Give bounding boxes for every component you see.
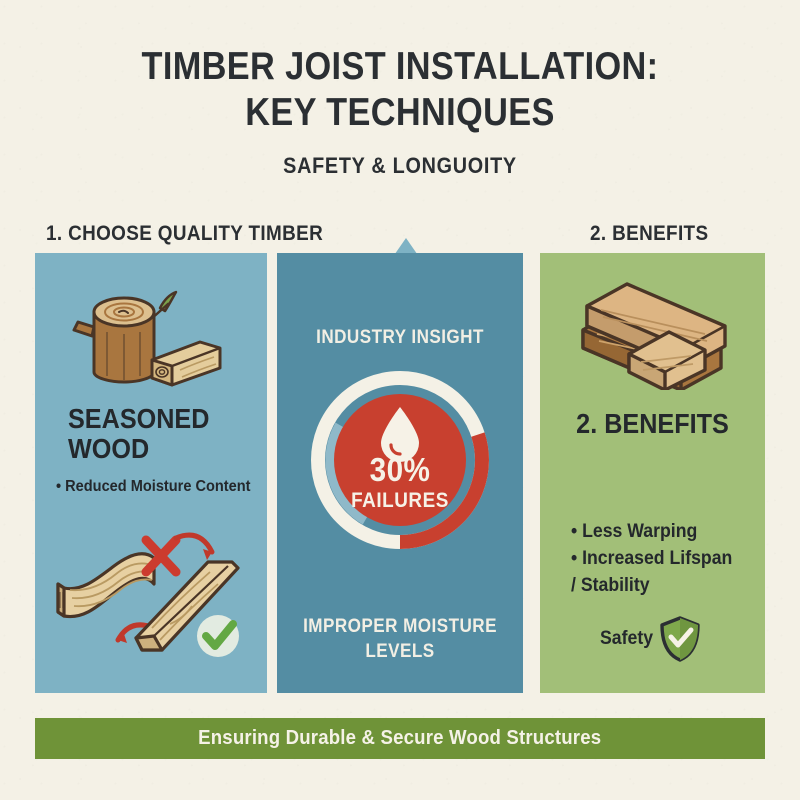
- benefits-list: • Less Warping • Increased Lifspan / Sta…: [571, 518, 732, 599]
- moisture-label-line-1: IMPROPER MOISTURE: [303, 616, 497, 637]
- donut-center-value: 30%: [289, 453, 510, 487]
- shield-check-icon: [658, 615, 702, 663]
- improper-moisture-label: IMPROPER MOISTURE LEVELS: [289, 614, 510, 664]
- left-panel-bullet: • Reduced Moisture Content: [56, 478, 251, 496]
- poster-header: TIMBER JOIST INSTALLATION: KEY TECHNIQUE…: [0, 44, 800, 179]
- crossed-timber-joists-icon: [573, 272, 735, 390]
- list-item: • Less Warping: [571, 518, 732, 545]
- section-header-choose-quality-timber: 1. CHOOSE QUALITY TIMBER: [46, 222, 323, 246]
- list-item: • Increased Lifspan: [571, 545, 732, 572]
- footer-banner: Ensuring Durable & Secure Wood Structure…: [35, 718, 765, 759]
- left-heading-line-1: SEASONED: [68, 403, 209, 434]
- industry-insight-label: INDUSTRY INSIGHT: [289, 325, 510, 350]
- title-line-2: KEY TECHNIQUES: [48, 90, 752, 136]
- list-item: / Stability: [571, 572, 732, 599]
- warped-vs-straight-board-icon: [42, 516, 270, 666]
- poster-subtitle: SAFETY & LONGUOITY: [40, 153, 760, 179]
- wood-log-icon: [52, 272, 242, 387]
- footer-text: Ensuring Durable & Secure Wood Structure…: [198, 727, 601, 750]
- left-panel-heading: SEASONED WOOD: [68, 404, 209, 464]
- title-line-1: TIMBER JOIST INSTALLATION:: [48, 44, 752, 90]
- left-heading-line-2: WOOD: [68, 433, 149, 464]
- moisture-label-line-2: LEVELS: [365, 641, 434, 662]
- green-check-icon: [197, 615, 239, 657]
- right-panel-heading: 2. BENEFITS: [551, 408, 754, 440]
- safety-badge: Safety: [598, 615, 702, 663]
- section-header-benefits: 2. BENEFITS: [590, 222, 708, 246]
- donut-center-caption: FAILURES: [289, 489, 510, 512]
- safety-label: Safety: [600, 628, 653, 650]
- infographic-poster: TIMBER JOIST INSTALLATION: KEY TECHNIQUE…: [0, 0, 800, 800]
